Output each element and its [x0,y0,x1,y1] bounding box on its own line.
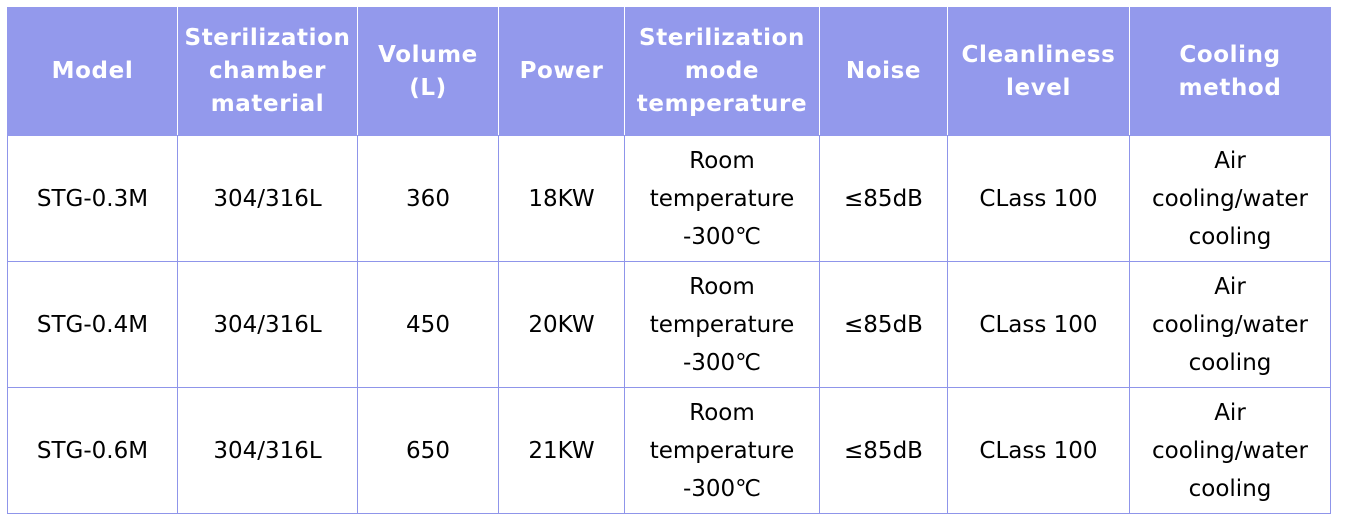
cell-cooling: Air cooling/water cooling [1130,388,1331,514]
cell-noise: ≤85dB [820,388,948,514]
cell-material: 304/316L [178,262,358,388]
cell-volume: 360 [358,136,499,262]
column-header-model: Model [8,8,178,136]
cell-volume: 650 [358,388,499,514]
cell-power: 21KW [499,388,625,514]
cell-cleanliness: CLass 100 [948,388,1130,514]
cell-cooling: Air cooling/water cooling [1130,262,1331,388]
table-header: Model Sterilization chamber material Vol… [8,8,1331,136]
column-header-volume: Volume (L) [358,8,499,136]
cell-noise: ≤85dB [820,262,948,388]
cell-temperature: Room temperature -300℃ [625,136,820,262]
cell-power: 20KW [499,262,625,388]
cell-cleanliness: CLass 100 [948,262,1130,388]
cell-model: STG-0.4M [8,262,178,388]
column-header-material: Sterilization chamber material [178,8,358,136]
column-header-power: Power [499,8,625,136]
table-row: STG-0.6M 304/316L 650 21KW Room temperat… [8,388,1331,514]
cell-temperature: Room temperature -300℃ [625,262,820,388]
cell-cleanliness: CLass 100 [948,136,1130,262]
cell-volume: 450 [358,262,499,388]
table-body: STG-0.3M 304/316L 360 18KW Room temperat… [8,136,1331,514]
spec-table-sheet: Model Sterilization chamber material Vol… [0,0,1348,525]
column-header-noise: Noise [820,8,948,136]
cell-noise: ≤85dB [820,136,948,262]
column-header-temperature: Sterilization mode temperature [625,8,820,136]
column-header-cleanliness: Cleanliness level [948,8,1130,136]
cell-material: 304/316L [178,388,358,514]
header-row: Model Sterilization chamber material Vol… [8,8,1331,136]
cell-temperature: Room temperature -300℃ [625,388,820,514]
cell-power: 18KW [499,136,625,262]
table-row: STG-0.3M 304/316L 360 18KW Room temperat… [8,136,1331,262]
sterilization-oven-spec-table: Model Sterilization chamber material Vol… [7,7,1331,514]
cell-model: STG-0.6M [8,388,178,514]
cell-cooling: Air cooling/water cooling [1130,136,1331,262]
table-row: STG-0.4M 304/316L 450 20KW Room temperat… [8,262,1331,388]
cell-material: 304/316L [178,136,358,262]
column-header-cooling: Cooling method [1130,8,1331,136]
cell-model: STG-0.3M [8,136,178,262]
